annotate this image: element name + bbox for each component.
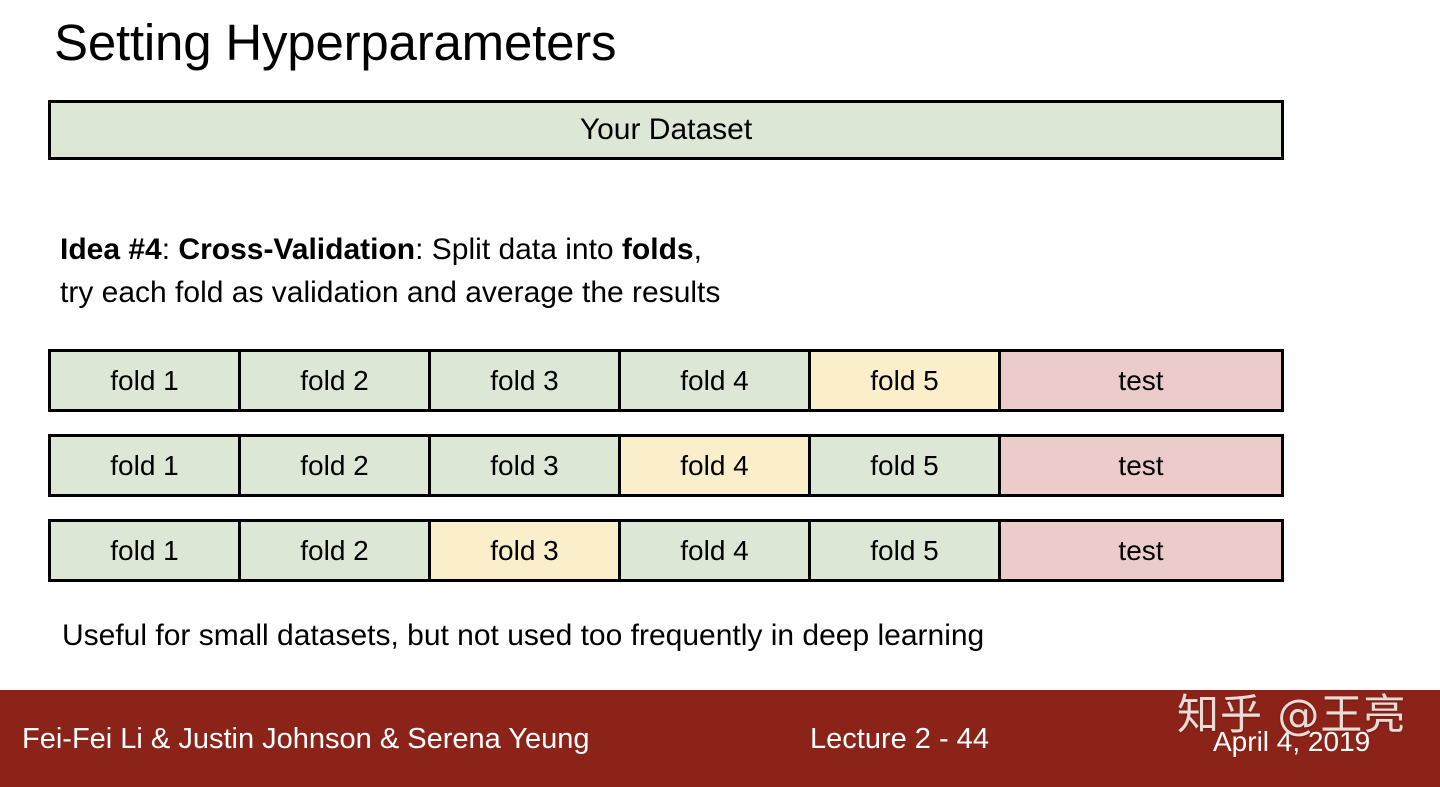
caption-text: Useful for small datasets, but not used … [62, 616, 984, 656]
fold-cell[interactable]: fold 2 [241, 352, 431, 409]
fold-cell-label: fold 2 [300, 367, 369, 395]
test-cell-label: test [1118, 367, 1163, 395]
table-row: fold 1 fold 2 fold 3 fold 4 fold 5 test [48, 519, 1284, 582]
dataset-bar: Your Dataset [48, 100, 1284, 160]
idea-body-text-2: , [694, 233, 702, 266]
table-row: fold 1 fold 2 fold 3 fold 4 fold 5 test [48, 434, 1284, 497]
fold-cell[interactable]: fold 1 [51, 522, 241, 579]
fold-cell[interactable]: fold 2 [241, 522, 431, 579]
fold-cell-label: fold 2 [300, 537, 369, 565]
fold-cell-validation[interactable]: fold 3 [431, 522, 621, 579]
footer-lecture-number: Lecture 2 - 44 [810, 720, 989, 758]
fold-cell-label: fold 1 [110, 452, 179, 480]
idea-lead-label: Idea #4 [60, 233, 162, 266]
fold-cell-label: fold 3 [490, 367, 559, 395]
page-title: Setting Hyperparameters [54, 12, 616, 74]
table-row: fold 1 fold 2 fold 3 fold 4 fold 5 test [48, 349, 1284, 412]
footer-authors: Fei-Fei Li & Justin Johnson & Serena Yeu… [22, 720, 589, 758]
fold-cell[interactable]: fold 2 [241, 437, 431, 494]
fold-cell[interactable]: fold 4 [621, 352, 811, 409]
fold-cell-validation[interactable]: fold 5 [811, 352, 1001, 409]
fold-cell-label: fold 1 [110, 537, 179, 565]
zhihu-watermark: 知乎 @王亮 [1177, 692, 1406, 738]
fold-cell-label: fold 4 [680, 452, 749, 480]
fold-cell-label: fold 2 [300, 452, 369, 480]
fold-cell[interactable]: fold 1 [51, 352, 241, 409]
fold-cell[interactable]: fold 5 [811, 437, 1001, 494]
fold-cell[interactable]: fold 1 [51, 437, 241, 494]
dataset-bar-label: Your Dataset [580, 115, 752, 145]
cross-validation-folds-table: fold 1 fold 2 fold 3 fold 4 fold 5 test … [48, 349, 1284, 604]
fold-cell[interactable]: fold 5 [811, 522, 1001, 579]
idea-separator-1: : [162, 233, 179, 266]
fold-cell-label: fold 3 [490, 452, 559, 480]
fold-cell-label: fold 3 [490, 537, 559, 565]
fold-cell-label: fold 4 [680, 537, 749, 565]
fold-cell[interactable]: fold 4 [621, 522, 811, 579]
idea-method-label: Cross-Validation [178, 233, 415, 266]
fold-cell-label: fold 4 [680, 367, 749, 395]
fold-cell-label: fold 1 [110, 367, 179, 395]
idea-body-text-1: Split data into [432, 233, 622, 266]
test-cell[interactable]: test [1001, 352, 1281, 409]
fold-cell-label: fold 5 [870, 452, 939, 480]
fold-cell-label: fold 5 [870, 367, 939, 395]
idea-folds-label: folds [622, 233, 694, 266]
idea-line-1: Idea #4: Cross-Validation: Split data in… [60, 228, 1260, 271]
fold-cell-label: fold 5 [870, 537, 939, 565]
fold-cell[interactable]: fold 3 [431, 352, 621, 409]
idea-line-2: try each fold as validation and average … [60, 271, 1260, 314]
test-cell-label: test [1118, 452, 1163, 480]
test-cell[interactable]: test [1001, 522, 1281, 579]
idea-separator-2: : [415, 233, 432, 266]
test-cell[interactable]: test [1001, 437, 1281, 494]
idea-paragraph: Idea #4: Cross-Validation: Split data in… [60, 228, 1260, 314]
fold-cell[interactable]: fold 3 [431, 437, 621, 494]
fold-cell-validation[interactable]: fold 4 [621, 437, 811, 494]
test-cell-label: test [1118, 537, 1163, 565]
